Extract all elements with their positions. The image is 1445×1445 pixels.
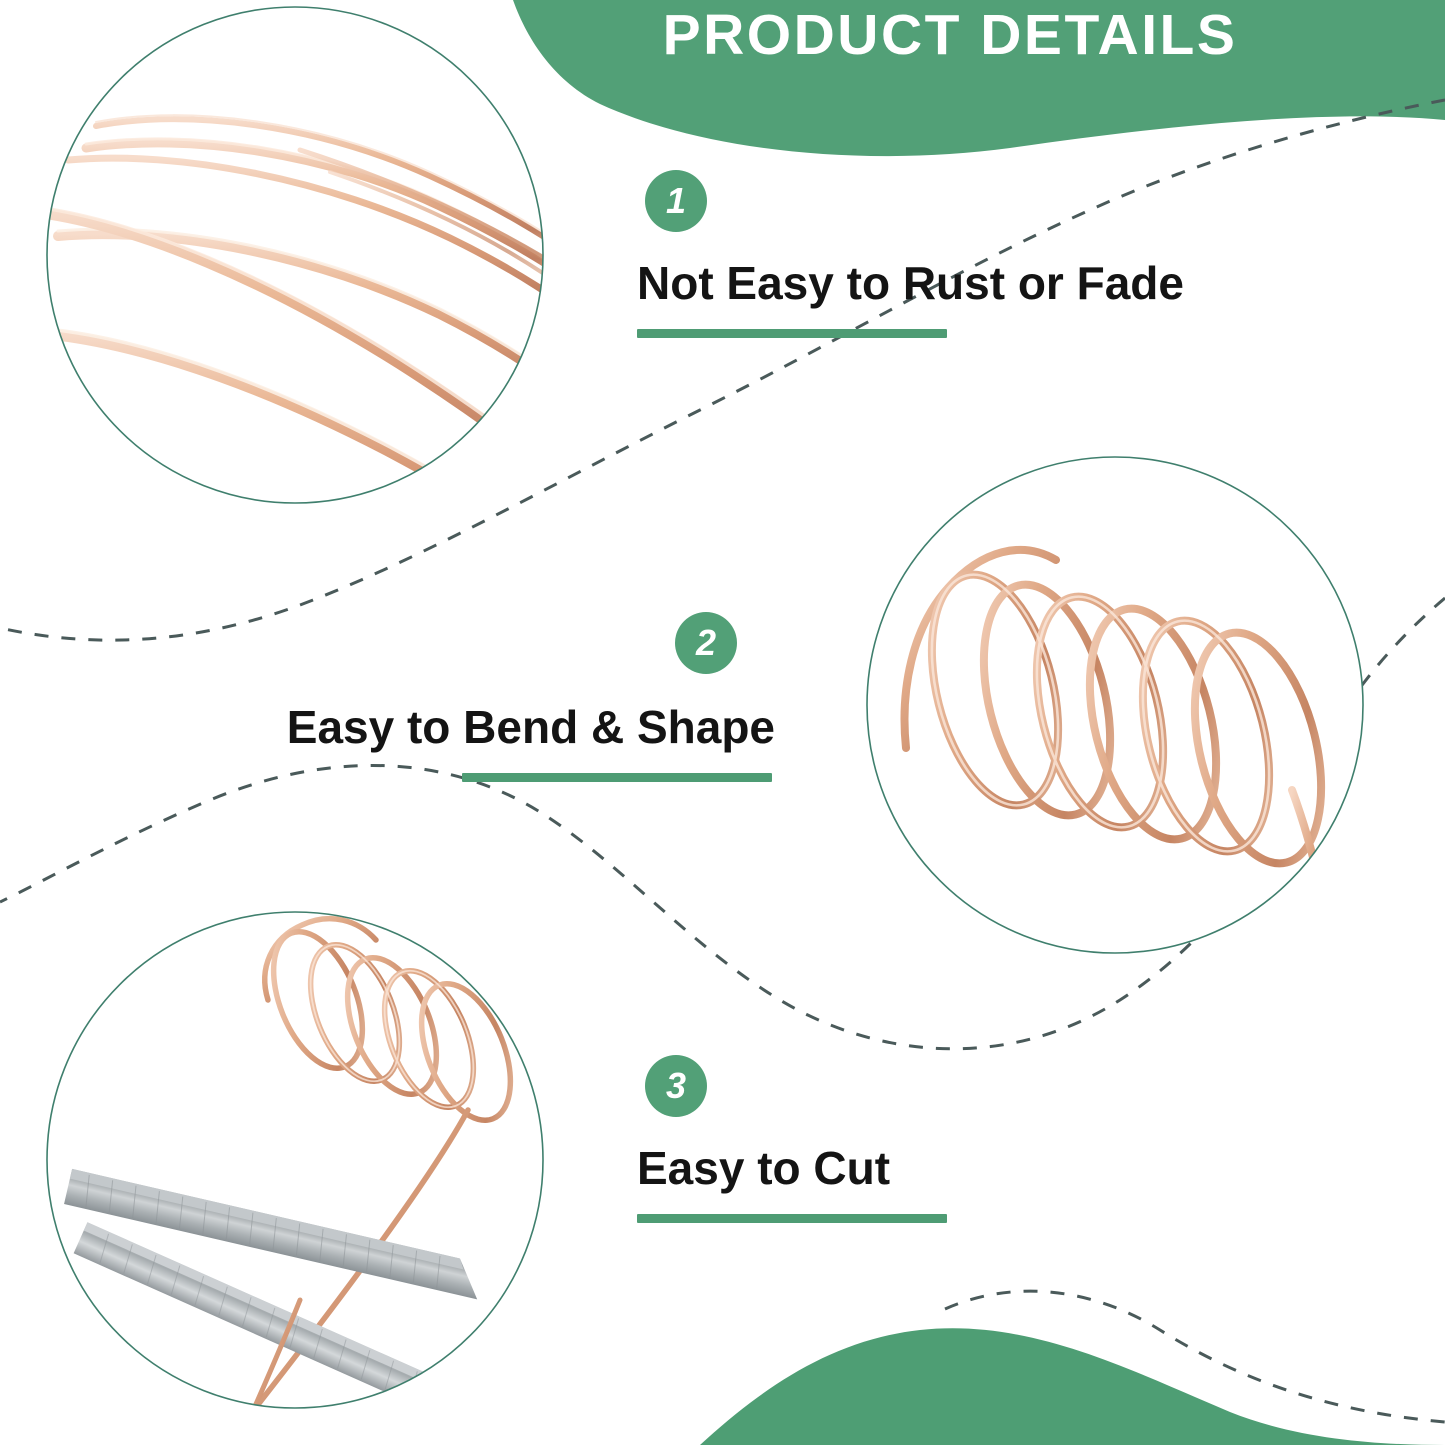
infographic-canvas: PRODUCT DETAILS 1 Not Easy to Rust or Fa… — [0, 0, 1445, 1445]
feature-number-badge-3: 3 — [645, 1055, 707, 1117]
feature-block-3: 3 Easy to Cut — [637, 1055, 947, 1223]
feature-underline-1 — [637, 329, 947, 338]
footer-green-wave — [700, 1328, 1445, 1445]
feature-underline-2 — [462, 773, 772, 782]
feature-number-badge-2: 2 — [675, 612, 737, 674]
feature-title-1: Not Easy to Rust or Fade — [637, 258, 1184, 309]
feature-title-2: Easy to Bend & Shape — [287, 702, 775, 753]
feature-title-3: Easy to Cut — [637, 1143, 947, 1194]
feature-block-1: 1 Not Easy to Rust or Fade — [637, 170, 1184, 338]
page-title: PRODUCT DETAILS — [600, 6, 1300, 66]
feature-underline-3 — [637, 1214, 947, 1223]
feature-number-badge-1: 1 — [645, 170, 707, 232]
feature-block-2: 2 Easy to Bend & Shape — [250, 612, 775, 782]
